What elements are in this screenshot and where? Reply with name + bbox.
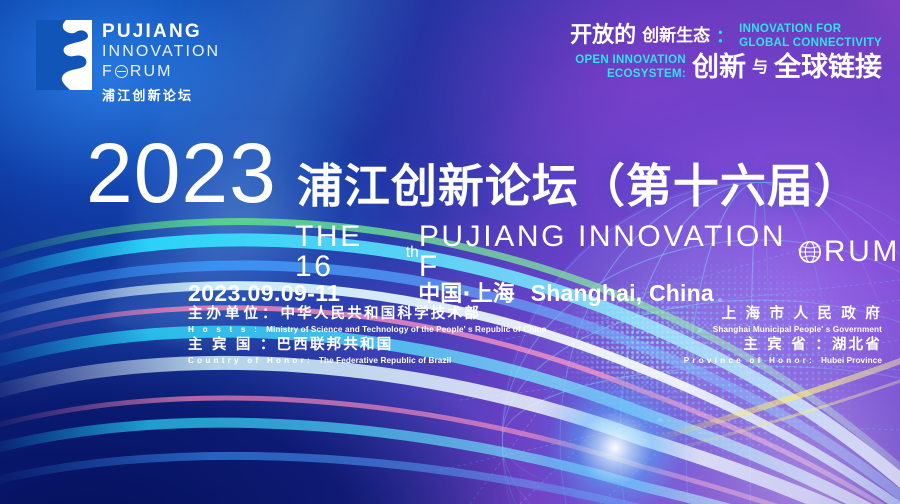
title-row: 2023 浦江创新论坛（第十六届） [0,132,900,214]
event-title-english: THE 16th PUJIANG INNOVATION FRUM [0,222,900,282]
slogan-en-right: INNOVATION FOR GLOBAL CONNECTIVITY [739,22,882,50]
slogan-cn-and: 与 [752,59,768,75]
logo-line-forum: F RUM [102,62,220,82]
globe-icon [798,240,822,264]
bright-light-point [530,378,700,504]
title-en-ordinal: th [406,245,419,261]
slogan-cn-innovation: 创新 [692,54,746,81]
government-chinese: 上 海 市 人 民 政 府 [713,306,882,323]
host-value-en: Ministry of Science and Technology of th… [266,325,546,334]
host-credit-chinese: 主办单位：中华人民共和国科学技术部 [188,306,546,323]
province-label-cn: 主 宾 省 ： [743,337,832,353]
government-english: Shanghai Municipal People′ s Government [713,325,882,335]
province-of-honor-chinese: 主 宾 省 ：湖北省 [684,337,882,354]
slogan-en-line-1: INNOVATION FOR [739,22,882,36]
event-poster: PUJIANG INNOVATION F RUM 浦江创新论坛 开放的 创新生态… [0,0,900,504]
logo-line-pujiang: PUJIANG [102,22,220,42]
title-en-pre: THE 16 [295,222,406,282]
logo-chinese-name: 浦江创新论坛 [102,85,220,104]
slogan-row-2: OPEN INNOVATION ECOSYSTEM: 创新 与 全球链接 [570,53,882,81]
slogan-en-line-3: OPEN INNOVATION [575,53,686,67]
date-location-line: 2023.09.09-11 中国·上海 Shanghai, China [188,276,714,308]
event-title-chinese: 浦江创新论坛（第十六届） [297,163,861,209]
logo-wordmark: PUJIANG INNOVATION F RUM 浦江创新论坛 [102,20,220,104]
event-date: 2023.09.09-11 [188,280,340,307]
pujiang-forum-logo[interactable]: PUJIANG INNOVATION F RUM 浦江创新论坛 [36,20,220,104]
host-label-cn: 主办单位： [188,306,281,322]
logo-forum-f: F [102,62,114,82]
province-of-honor-credit: 主 宾 省 ：湖北省 Province of Honor:Hubei Provi… [684,337,882,366]
event-city-english: Shanghai, China [531,280,714,307]
globe-letter-o-icon [115,65,128,78]
event-year: 2023 [86,132,277,214]
province-value-en: Hubei Province [821,356,882,365]
main-title-block: 2023 浦江创新论坛（第十六届） THE 16th PUJIANG INNOV… [0,132,900,282]
title-en-post: RUM [824,237,900,267]
host-label-en: H o s t s : [188,325,260,334]
host-credit-english: H o s t s :Ministry of Science and Techn… [188,325,546,335]
province-value-cn: 湖北省 [832,337,882,353]
slogan-cn-ecosystem: 创新生态 [642,28,710,45]
slogan-colon-1: ： [716,28,733,45]
credits-block: 主办单位：中华人民共和国科学技术部 H o s t s :Ministry of… [0,306,900,376]
title-en-mid: PUJIANG INNOVATION F [419,222,796,282]
slogan-block: 开放的 创新生态 ： INNOVATION FOR GLOBAL CONNECT… [570,22,882,81]
country-label-cn: 主 宾 国 ： [188,337,277,353]
slogan-en-line-4: ECOSYSTEM: [575,67,686,81]
country-of-honor-chinese: 主 宾 国 ：巴西联邦共和国 [188,337,451,354]
logo-line-innovation: INNOVATION [102,42,220,62]
slogan-row-1: 开放的 创新生态 ： INNOVATION FOR GLOBAL CONNECT… [570,22,882,50]
government-credit: 上 海 市 人 民 政 府 Shanghai Municipal People′… [713,306,882,335]
slogan-cn-global-link: 全球链接 [774,54,882,81]
logo-forum-rum: RUM [130,62,173,82]
province-of-honor-english: Province of Honor:Hubei Province [684,356,882,366]
host-value-cn: 中华人民共和国科学技术部 [281,306,481,322]
country-label-en: Country of Honor: [188,356,313,365]
country-of-honor-english: Country of Honor:The Federative Republic… [188,356,451,366]
country-value-en: The Federative Republic of Brazil [319,356,452,365]
host-credit: 主办单位：中华人民共和国科学技术部 H o s t s :Ministry of… [188,306,546,335]
pujiang-wave-logo-icon [36,20,92,90]
country-of-honor-credit: 主 宾 国 ：巴西联邦共和国 Country of Honor:The Fede… [188,337,451,366]
event-city-chinese: 中国·上海 [418,276,514,308]
slogan-en-line-2: GLOBAL CONNECTIVITY [739,36,882,50]
slogan-cn-open: 开放的 [570,25,636,47]
country-value-cn: 巴西联邦共和国 [277,337,394,353]
province-label-en: Province of Honor: [684,356,815,365]
slogan-en-left: OPEN INNOVATION ECOSYSTEM: [575,53,686,81]
